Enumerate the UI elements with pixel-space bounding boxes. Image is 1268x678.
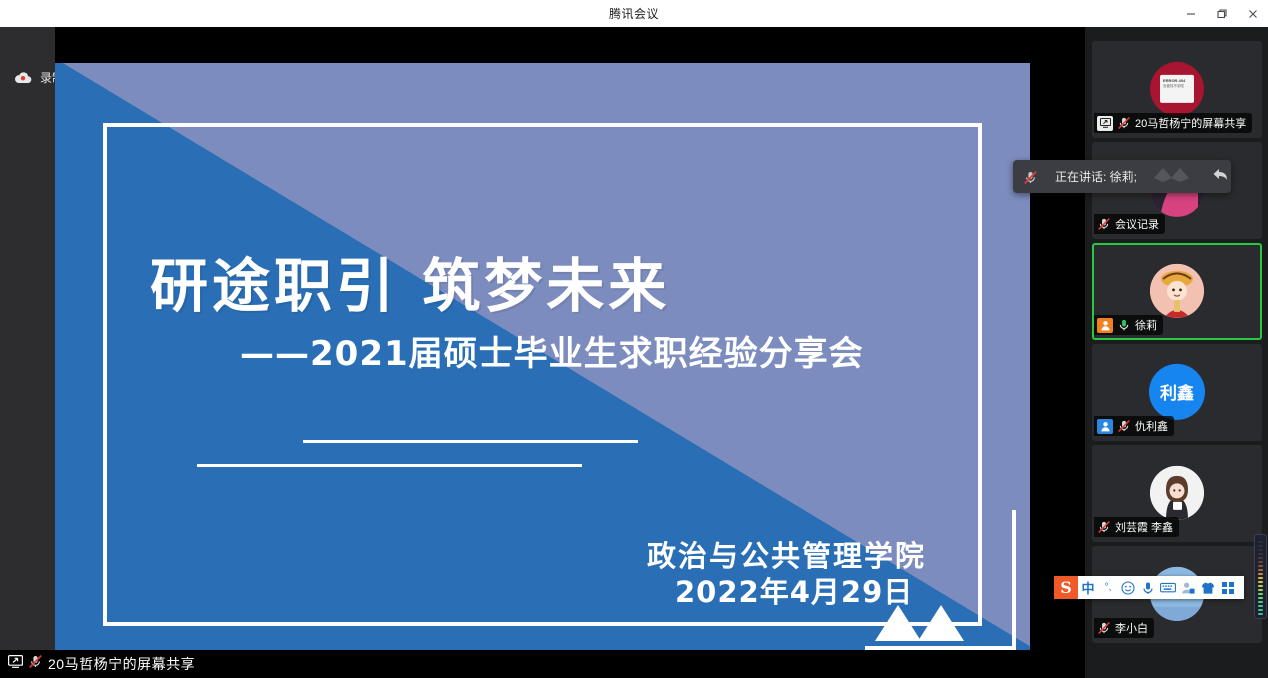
participant-tile-liuyunxia[interactable]: 刘芸霞 李鑫 (1092, 445, 1262, 542)
user-icon (1097, 419, 1113, 434)
mic-muted-icon (1097, 621, 1111, 635)
slide-subtitle: ——2021届硕士毕业生求职经验分享会 (240, 326, 864, 375)
participant-name: 徐莉 (1135, 317, 1157, 333)
ime-toolbox-icon[interactable] (1218, 576, 1238, 599)
tile-footer: 20马哲杨宁的屏幕共享 (1094, 113, 1252, 133)
participant-panel-inner: ERROR 404 页面找不到啦 (1085, 27, 1268, 678)
slide-decor-bar-right (1012, 510, 1016, 650)
audio-level-segment (1258, 613, 1263, 616)
screen-share-icon (8, 655, 23, 673)
slide-title: 研途职引 筑梦未来 (150, 239, 670, 323)
presentation-slide: 研途职引 筑梦未来 ——2021届硕士毕业生求职经验分享会 政治与公共管理学院 … (55, 63, 1030, 651)
title-bar: 腾讯会议 (0, 0, 1268, 27)
tile-footer: 刘芸霞 李鑫 (1094, 517, 1179, 537)
window-controls (1175, 0, 1268, 27)
shared-screen-stage[interactable]: 录制中 研途职引 筑梦未来 ——2021届硕士毕业生求职经验分享会 政治与公共管… (0, 27, 1085, 678)
tile-footer: 徐莉 (1094, 315, 1163, 335)
mic-muted-icon (1023, 170, 1037, 184)
speaking-now-popup[interactable]: 正在讲话: 徐莉; (1013, 160, 1231, 193)
mic-muted-icon (1117, 419, 1131, 433)
reply-arrow-icon[interactable] (1212, 167, 1229, 187)
audio-level-meter (1254, 534, 1267, 619)
mic-muted-icon (1097, 217, 1111, 231)
audio-level-segment (1258, 585, 1263, 588)
mic-on-icon (1117, 318, 1131, 332)
stage-left-gutter (0, 27, 55, 650)
participant-tile-screenshare[interactable]: ERROR 404 页面找不到啦 (1092, 41, 1262, 138)
avatar-initials: 利鑫 (1160, 379, 1194, 404)
slide-triangle-left-icon (875, 605, 921, 641)
avatar: ERROR 404 页面找不到啦 (1150, 61, 1204, 115)
participant-tile-xuli[interactable]: 徐莉 (1092, 243, 1262, 340)
audio-level-segment (1258, 605, 1263, 608)
close-button[interactable] (1237, 0, 1268, 27)
slide-triangle-right-icon (918, 605, 964, 641)
mic-muted-icon (1097, 520, 1111, 534)
error-404-document-avatar: ERROR 404 页面找不到啦 (1160, 74, 1194, 102)
audio-level-segment (1258, 609, 1263, 612)
audio-level-segment (1258, 573, 1263, 576)
ime-soft-keyboard-icon[interactable] (1158, 576, 1178, 599)
mic-muted-icon (28, 654, 43, 674)
avatar (1150, 465, 1204, 519)
audio-level-segment (1258, 553, 1263, 556)
audio-level-segment (1258, 589, 1263, 592)
ime-language-toggle[interactable]: 中 (1078, 576, 1098, 599)
participant-name: 20马哲杨宁的屏幕共享 (1135, 115, 1246, 131)
participant-name: 会议记录 (1115, 216, 1159, 232)
audio-level-segment (1258, 545, 1263, 548)
minimize-button[interactable] (1175, 0, 1206, 27)
sogou-ime-toolbar[interactable]: S 中 °, (1054, 576, 1244, 599)
slide-decor-line-top (303, 440, 638, 443)
ime-voice-input-icon[interactable] (1138, 576, 1158, 599)
participant-name: 李小白 (1115, 620, 1148, 636)
ime-skin-icon[interactable] (1198, 576, 1218, 599)
avatar: 利鑫 (1149, 363, 1205, 419)
screen-share-icon (1097, 116, 1113, 131)
audio-level-segment (1258, 581, 1263, 584)
tile-footer: 会议记录 (1094, 214, 1165, 234)
share-status-label: 20马哲杨宁的屏幕共享 (48, 654, 195, 674)
tile-footer: 李小白 (1094, 618, 1154, 638)
audio-level-segment (1258, 577, 1263, 580)
participant-name: 仇利鑫 (1135, 418, 1168, 434)
audio-level-segment (1258, 601, 1263, 604)
audio-level-segment (1258, 561, 1263, 564)
audio-level-segment (1258, 557, 1263, 560)
ime-user-icon[interactable] (1178, 576, 1198, 599)
window-title: 腾讯会议 (609, 5, 659, 22)
ime-punctuation-toggle[interactable]: °, (1098, 576, 1118, 599)
mic-muted-icon (1117, 116, 1131, 130)
avatar-error-subtext: 页面找不到啦 (1163, 84, 1191, 90)
slide-decor-line-bottom (197, 464, 582, 467)
speaking-now-label: 正在讲话: 徐莉; (1055, 168, 1137, 185)
sogou-logo-icon[interactable]: S (1054, 576, 1078, 599)
audio-level-segment (1258, 569, 1263, 572)
audio-level-segment (1258, 549, 1263, 552)
audio-level-segment (1258, 541, 1263, 544)
cloud-record-icon (14, 71, 32, 84)
participant-tile-qiulixin[interactable]: 利鑫 仇利鑫 (1092, 344, 1262, 441)
maximize-button[interactable] (1206, 0, 1237, 27)
ime-emoji-icon[interactable] (1118, 576, 1138, 599)
participant-name: 刘芸霞 李鑫 (1115, 519, 1173, 535)
audio-level-segment (1258, 597, 1263, 600)
share-status-bar: 20马哲杨宁的屏幕共享 (0, 650, 1085, 678)
audio-level-segment (1258, 593, 1263, 596)
audio-level-segment (1258, 565, 1263, 568)
participant-panel[interactable]: ERROR 404 页面找不到啦 (1085, 27, 1268, 678)
chevron-collapse-icon[interactable] (1150, 164, 1194, 189)
avatar (1150, 263, 1204, 317)
tile-footer: 仇利鑫 (1094, 416, 1174, 436)
host-user-icon (1097, 318, 1113, 333)
